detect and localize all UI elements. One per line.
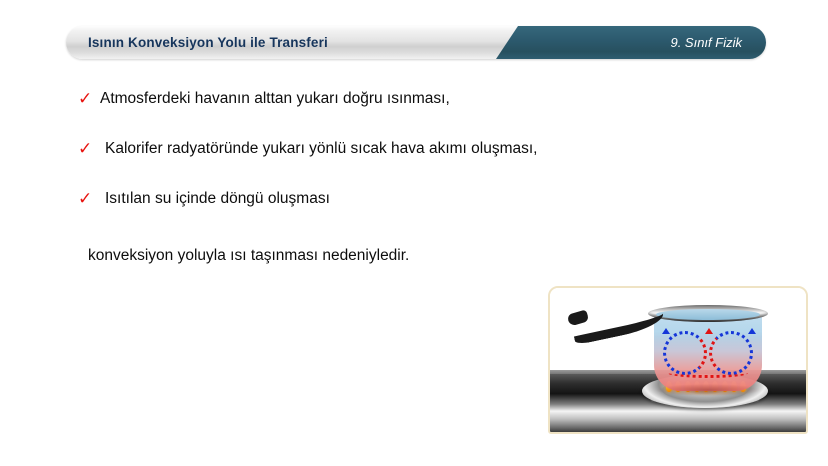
saucepan-handle-icon [570,301,665,346]
closing-statement: konveksiyon yoluyla ısı taşınması nedeni… [88,245,409,267]
illustration-canvas [550,288,806,432]
bullet-list: ✓ Atmosferdeki havanın alttan yukarı doğ… [78,88,758,238]
check-icon: ✓ [78,88,100,109]
subject-tag: 9. Sınıf Fizik [670,26,742,59]
list-item: ✓ Atmosferdeki havanın alttan yukarı doğ… [78,88,758,112]
list-item: ✓ Isıtılan su içinde döngü oluşması [78,188,758,212]
pot-bottom-shadow-icon [656,384,760,396]
page-title: Isının Konveksiyon Yolu ile Transferi [88,26,328,59]
illustration-frame [548,286,808,434]
check-icon: ✓ [78,138,100,159]
convection-arrow-up-right-icon [748,328,756,334]
list-item-label: Kalorifer radyatöründe yukarı yönlü sıca… [100,138,758,159]
convection-hot-flow-icon [668,368,748,378]
list-item-label: Atmosferdeki havanın alttan yukarı doğru… [100,88,758,109]
convection-arrow-up-left-icon [662,328,670,334]
slide-header-bar: Isının Konveksiyon Yolu ile Transferi 9.… [66,26,766,59]
list-item: ✓ Kalorifer radyatöründe yukarı yönlü sı… [78,138,758,162]
water-surface-icon [656,309,760,320]
slide-canvas: Isının Konveksiyon Yolu ile Transferi 9.… [0,0,828,466]
check-icon: ✓ [78,188,100,209]
convection-arrow-up-center-icon [705,328,713,334]
list-item-label: Isıtılan su içinde döngü oluşması [100,188,758,209]
